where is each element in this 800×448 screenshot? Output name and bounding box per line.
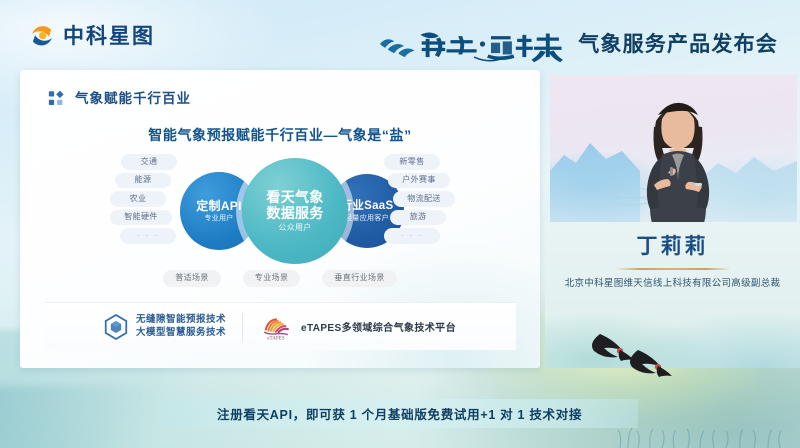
brand-logo: 中科星图 [28,22,155,50]
etapes-cloud-icon: eTAPES [259,312,293,342]
speaker-divider [615,268,731,270]
slide-subtitle: 智能气象预报赋能千行百业—气象是“盐” [20,125,540,145]
bubble-weather-data-service[interactable]: 看天气象 数据服务 公众用户 [242,158,348,264]
speaker-caption: 丁莉莉 北京中科星图维天信线上科技有限公司高级副总裁 [545,222,800,368]
bubble-audience: 专业用户 [204,215,233,222]
presenter-scene [550,75,797,223]
tech-text-lines: 无缝隙智能预报技术 大模型智慧服务技术 [136,315,226,338]
speaker-panel: 丁莉莉 北京中科星图维天信线上科技有限公司高级副总裁 [545,70,800,368]
speaker-role: 北京中科星图维天信线上科技有限公司高级副总裁 [565,279,781,289]
industry-pill-more: · · · [384,228,440,244]
industry-pills-right: 新零售 户外赛事 物流配送 旅游 · · · [382,154,456,244]
presentation-screen: 中科星图 [0,0,800,448]
scene-chip: 专业场景 [243,270,301,287]
industry-pill-more: · · · [120,228,176,244]
svg-text:eTAPES: eTAPES [267,335,285,341]
slide-title: 气象赋能千行百业 [75,92,191,106]
industry-pill: 户外赛事 [388,173,450,189]
brush-script-wave-icon [376,24,572,64]
tech-line-2: 大模型智慧服务技术 [136,328,226,338]
scene-chips: 普适场景 专业场景 垂直行业场景 [20,270,540,287]
event-title: 气象服务产品发布会 [376,24,778,64]
bubble-title-line2: 数据服务 [266,206,323,221]
capability-diagram: 交通 能源 农业 智能硬件 · · · 定制API 专业用户 看天气象 数据服务… [20,154,540,284]
presenter-figure [647,103,709,223]
industry-pill: 交通 [121,154,177,170]
slide-card: 气象赋能千行百业 智能气象预报赋能千行百业—气象是“盐” 交通 能源 农业 智能… [20,70,540,368]
industry-pill: 新零售 [384,154,440,170]
tech-divider [242,313,243,341]
scene-chip: 垂直行业场景 [322,270,396,287]
brand-name: 中科星图 [63,26,155,47]
bubble-title: 定制API [196,200,242,213]
hexagon-cube-icon [104,314,128,340]
etapes-platform-label: eTAPES多领域综合气象技术平台 [301,319,456,334]
industry-pills-left: 交通 能源 农业 智能硬件 · · · [104,154,178,244]
cta-text: 注册看天API，即可获 1 个月基础版免费试用+1 对 1 技术对接 [217,404,582,423]
industry-pill: 物流配送 [393,191,455,207]
product-bubbles: 定制API 专业用户 看天气象 数据服务 公众用户 行业SaaS 轻量应用客户 [180,158,390,266]
presenter-video[interactable] [550,75,797,223]
tech-forecast-group: 无缝隙智能预报技术 大模型智慧服务技术 [104,314,226,340]
industry-pill: 智能硬件 [110,210,172,226]
industry-pill: 能源 [115,173,171,189]
four-dots-icon [48,90,65,107]
tech-line-1: 无缝隙智能预报技术 [136,315,226,325]
industry-pill: 农业 [110,191,166,207]
cta-banner: 注册看天API，即可获 1 个月基础版免费试用+1 对 1 技术对接 [161,399,638,428]
industry-pill: 旅游 [390,210,446,226]
speaker-name: 丁莉莉 [637,236,709,257]
bubble-audience: 公众用户 [278,224,311,232]
swirl-logo-icon [28,22,56,50]
scene-chip: 普适场景 [163,270,221,287]
slide-header: 气象赋能千行百业 [48,90,191,107]
bubble-title-line1: 看天气象 [266,190,323,205]
technology-bar: 无缝隙智能预报技术 大模型智慧服务技术 eTAPES [44,302,516,350]
event-subtitle: 气象服务产品发布会 [578,34,778,55]
tech-etapes-group: eTAPES eTAPES多领域综合气象技术平台 [259,312,456,342]
